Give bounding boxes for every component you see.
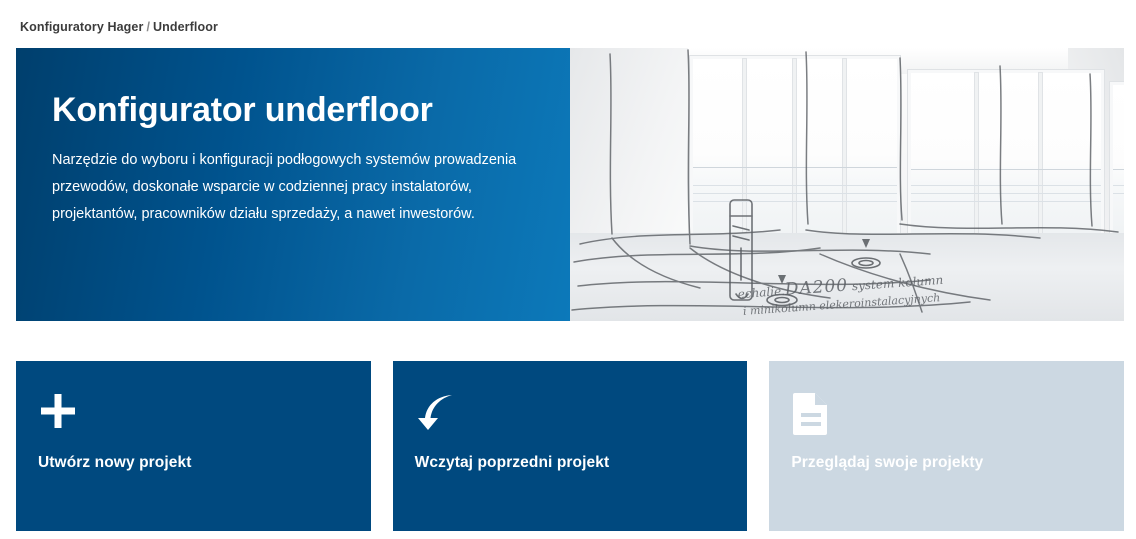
photo-window-left — [690, 56, 900, 261]
hero-text-panel: Konfigurator underfloor Narzędzie do wyb… — [16, 48, 570, 321]
breadcrumb-item-current[interactable]: Underfloor — [153, 20, 218, 34]
annotation-tail: system kolumn — [851, 273, 943, 293]
hero-photo: echalie.DA200 system kolumn i minikolumn… — [570, 48, 1124, 321]
photo-window-center — [908, 70, 1104, 255]
card-browse-your-projects[interactable]: Przeglądaj swoje projekty — [769, 361, 1124, 531]
page-title: Konfigurator underfloor — [52, 92, 530, 129]
annotation-prefix: echalie. — [737, 284, 785, 301]
breadcrumb-item-root[interactable]: Konfiguratory Hager — [20, 20, 143, 34]
annotation-product-code: DA200 — [784, 276, 849, 300]
document-icon — [791, 391, 1102, 443]
hero-banner: Konfigurator underfloor Narzędzie do wyb… — [16, 48, 1124, 321]
card-label-create-new-project: Utwórz nowy projekt — [38, 454, 191, 472]
hero-description: Narzędzie do wyboru i konfiguracji podło… — [52, 147, 530, 227]
card-create-new-project[interactable]: Utwórz nowy projekt — [16, 361, 371, 531]
card-label-browse-your-projects: Przeglądaj swoje projekty — [791, 454, 983, 472]
card-label-load-previous-project: Wczytaj poprzedni projekt — [415, 454, 610, 472]
action-card-list: Utwórz nowy projekt Wczytaj poprzedni pr… — [16, 361, 1124, 531]
breadcrumb: Konfiguratory Hager/Underfloor — [20, 20, 218, 34]
plus-icon — [38, 391, 349, 443]
breadcrumb-separator: / — [146, 20, 150, 34]
photo-wall-left — [570, 48, 688, 263]
page-root: Konfiguratory Hager/Underfloor Konfigura… — [0, 0, 1136, 539]
curved-download-arrow-icon — [415, 391, 726, 443]
photo-window-right — [1110, 82, 1124, 250]
card-load-previous-project[interactable]: Wczytaj poprzedni projekt — [393, 361, 748, 531]
